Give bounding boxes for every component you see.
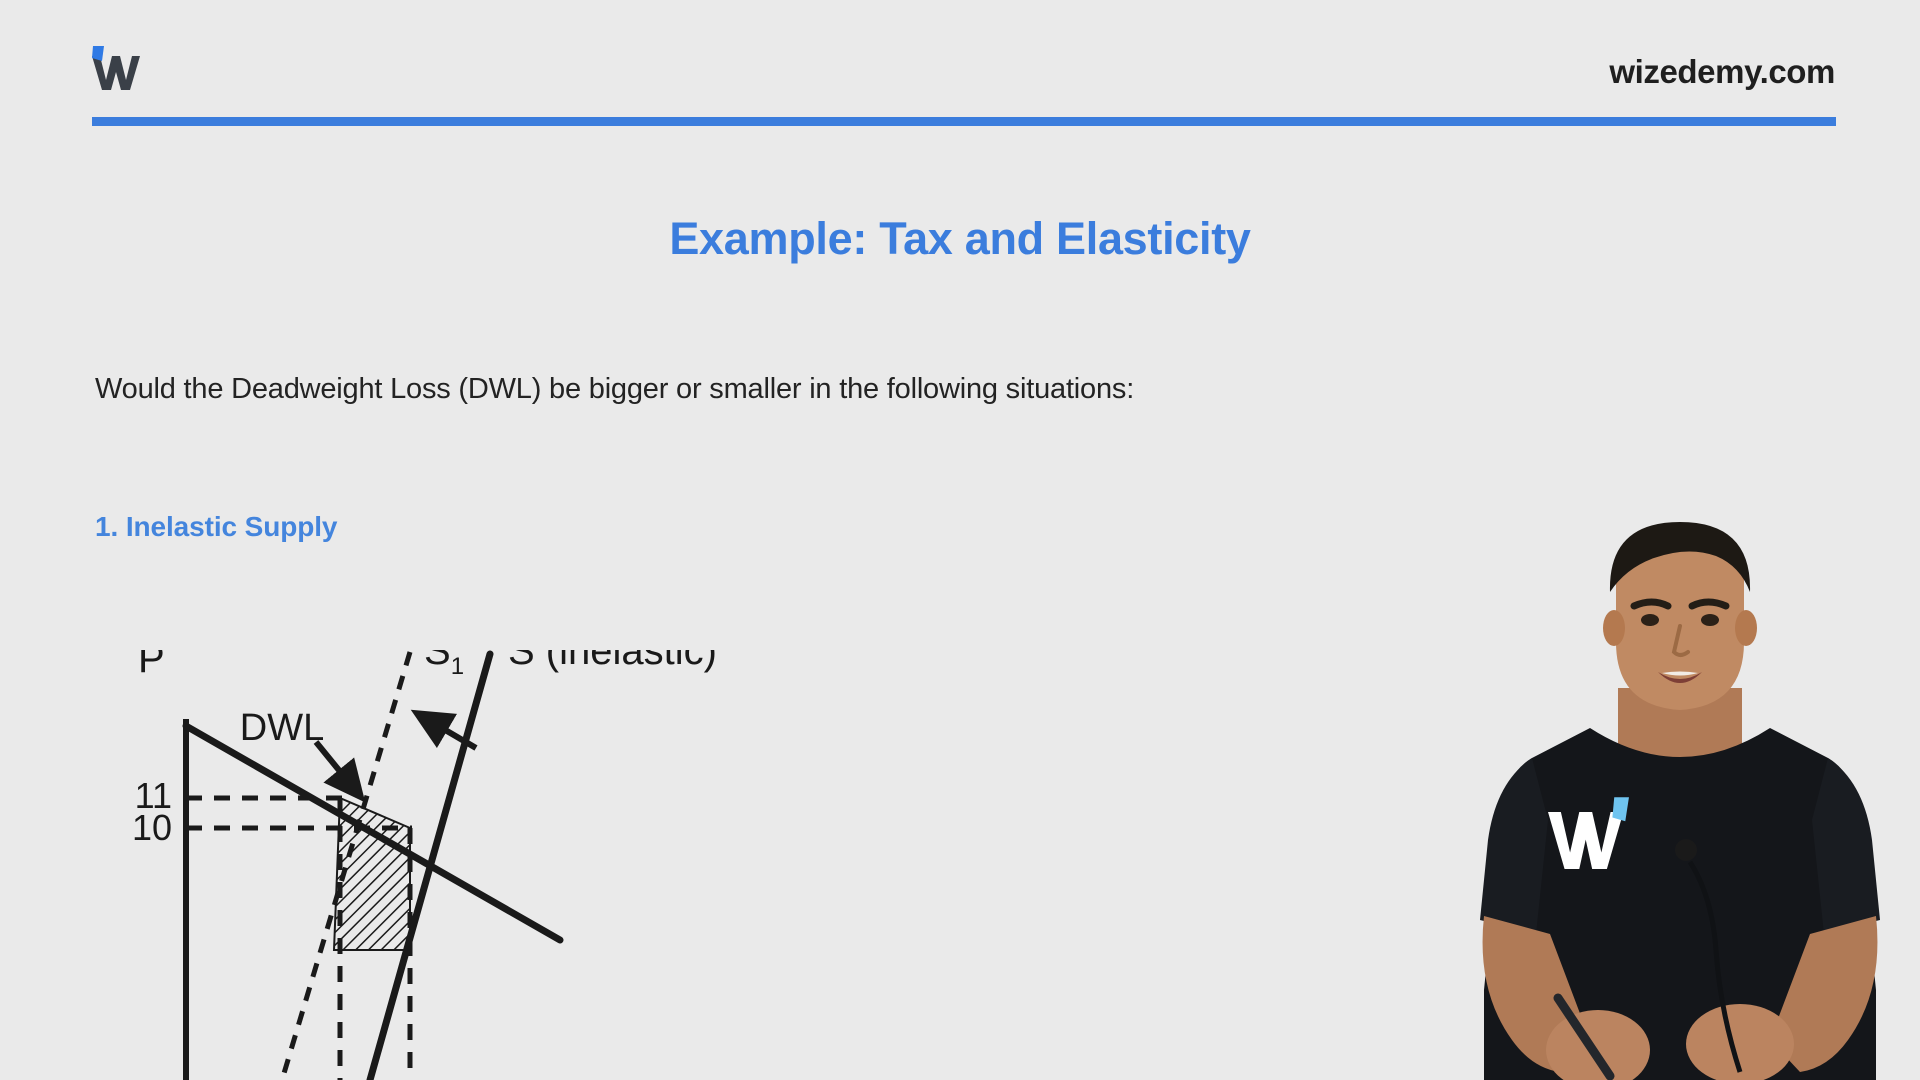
dwl-pointer-arrow [316, 742, 360, 796]
list-item-heading: 1. Inelastic Supply [95, 511, 337, 543]
header-divider [92, 117, 1836, 126]
prompt-question: Would the Deadweight Loss (DWL) be bigge… [95, 373, 1134, 406]
instructor-video [1440, 520, 1920, 1080]
supply-demand-chart: P 11 10 DWL S1 S (inelastic) [120, 650, 1020, 1080]
axis-label-price: P [138, 650, 165, 681]
wizedemy-w-logo-icon [90, 44, 154, 94]
dwl-label: DWL [240, 707, 324, 749]
slide-root: wizedemy.com Example: Tax and Elasticity… [0, 0, 1920, 1080]
microphone-icon [1675, 839, 1697, 861]
site-url-text: wizedemy.com [1609, 53, 1835, 91]
supply-label: S (inelastic) [508, 650, 717, 673]
page-title: Example: Tax and Elasticity [0, 213, 1920, 265]
supply-shifted-label: S1 [424, 650, 464, 680]
slide-header: wizedemy.com [0, 0, 1920, 135]
ytick-label-10: 10 [132, 807, 172, 848]
